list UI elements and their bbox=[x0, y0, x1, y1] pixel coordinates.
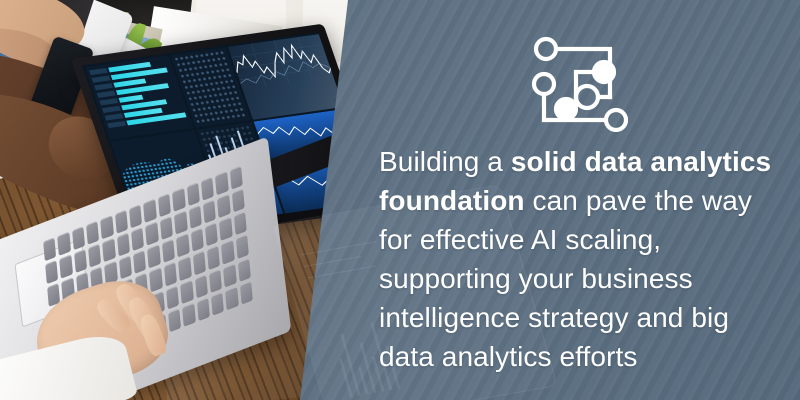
headline-bold-a: solid data analytics bbox=[511, 146, 771, 177]
headline-line-4: supporting your business bbox=[379, 263, 693, 294]
headline-text: Building a solid data analytics foundati… bbox=[379, 142, 783, 376]
headline-line-3: for effective AI scaling, bbox=[379, 224, 661, 255]
icon-node-1 bbox=[536, 39, 556, 59]
headline-line-6: data analytics efforts bbox=[379, 341, 638, 372]
line-chart-svg bbox=[228, 34, 336, 91]
icon-node-4 bbox=[576, 86, 598, 108]
icon-node-6 bbox=[606, 110, 626, 130]
headline-plain-rest: can pave the way bbox=[525, 185, 752, 216]
icon-node-2 bbox=[594, 62, 614, 82]
icon-node-3 bbox=[534, 74, 554, 94]
headline-bold-b: foundation bbox=[379, 185, 525, 216]
headline-plain-lead: Building a bbox=[379, 146, 511, 177]
headline-line-5: intelligence strategy and big bbox=[379, 302, 729, 333]
banner-root: Building a solid data analytics foundati… bbox=[0, 0, 800, 400]
data-network-nodes-icon bbox=[524, 28, 628, 132]
network-icon-svg bbox=[524, 28, 628, 132]
icon-node-5 bbox=[556, 99, 576, 119]
